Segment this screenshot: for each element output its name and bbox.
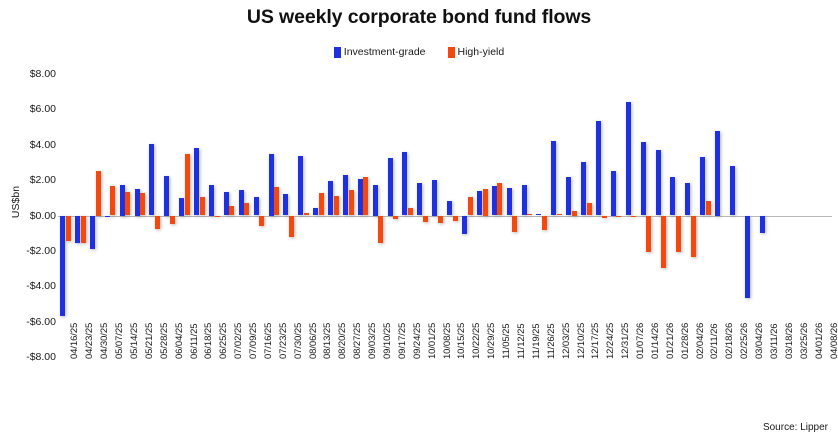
bar-high-yield[interactable] [200, 197, 205, 216]
bar-investment-grade[interactable] [149, 144, 154, 216]
bar-high-yield[interactable] [661, 216, 666, 268]
bar-high-yield[interactable] [512, 216, 517, 233]
bar-group [400, 74, 415, 357]
y-tick-label: $0.00 [4, 210, 56, 222]
bar-high-yield[interactable] [393, 216, 398, 220]
bar-group [252, 74, 267, 357]
bar-high-yield[interactable] [468, 197, 473, 216]
x-tick-label: 10/15/25 [456, 323, 467, 359]
bar-group [698, 74, 713, 357]
bar-investment-grade[interactable] [700, 157, 705, 215]
bar-group [758, 74, 773, 357]
bar-investment-grade[interactable] [298, 156, 303, 215]
bar-investment-grade[interactable] [120, 185, 125, 216]
x-tick-label: 12/24/25 [605, 323, 616, 359]
bar-investment-grade[interactable] [611, 171, 616, 215]
bar-group [132, 74, 147, 357]
bar-investment-grade[interactable] [507, 188, 512, 215]
x-tick-label: 02/25/26 [739, 323, 750, 359]
bar-group [58, 74, 73, 357]
bar-high-yield[interactable] [706, 201, 711, 215]
x-tick-label: 12/17/25 [590, 323, 601, 359]
bar-investment-grade[interactable] [581, 162, 586, 216]
bar-investment-grade[interactable] [730, 166, 735, 216]
x-tick-label: 06/11/25 [189, 324, 200, 359]
x-tick-label: 12/03/25 [561, 323, 572, 359]
x-tick-label: 01/28/26 [680, 323, 691, 359]
x-tick-label: 08/27/25 [352, 323, 363, 359]
x-tick-label: 01/07/26 [635, 323, 646, 359]
bar-group [430, 74, 445, 357]
bar-group [341, 74, 356, 357]
bar-high-yield[interactable] [155, 216, 160, 229]
x-tick-label: 11/19/25 [531, 324, 542, 359]
bar-high-yield[interactable] [349, 190, 354, 216]
bar-investment-grade[interactable] [685, 183, 690, 216]
bar-group [296, 74, 311, 357]
bar-group [668, 74, 683, 357]
x-tick-label: 05/14/25 [129, 323, 140, 359]
y-tick-label: -$2.00 [4, 245, 56, 257]
y-tick-label: $4.00 [4, 139, 56, 151]
bar-high-yield[interactable] [244, 203, 249, 215]
x-tick-label: 03/11/26 [769, 324, 780, 359]
bar-group [460, 74, 475, 357]
x-tick-label: 04/23/25 [84, 323, 95, 359]
bar-group [147, 74, 162, 357]
bar-investment-grade[interactable] [328, 181, 333, 215]
bar-investment-grade[interactable] [492, 186, 497, 215]
bar-group [519, 74, 534, 357]
bar-group [88, 74, 103, 357]
bar-group [713, 74, 728, 357]
bar-group [624, 74, 639, 357]
bar-high-yield[interactable] [319, 193, 324, 216]
x-tick-label: 02/11/26 [709, 324, 720, 359]
bar-group [639, 74, 654, 357]
bar-investment-grade[interactable] [75, 216, 80, 243]
bar-group [73, 74, 88, 357]
bar-group [192, 74, 207, 357]
bar-high-yield[interactable] [274, 187, 279, 215]
x-tick-label: 04/01/26 [814, 323, 825, 359]
bar-high-yield[interactable] [676, 216, 681, 252]
bar-group [743, 74, 758, 357]
x-tick-label: 10/08/25 [442, 323, 453, 359]
x-tick-label: 05/07/25 [114, 323, 125, 359]
bar-investment-grade[interactable] [194, 148, 199, 215]
bar-investment-grade[interactable] [656, 150, 661, 215]
bar-group [281, 74, 296, 357]
x-tick-label: 04/16/25 [69, 323, 80, 359]
bar-high-yield[interactable] [423, 216, 428, 222]
bar-investment-grade[interactable] [596, 121, 601, 216]
legend-swatch-high-yield [448, 47, 455, 58]
bar-high-yield[interactable] [631, 216, 636, 217]
bar-investment-grade[interactable] [135, 189, 140, 216]
bar-group [728, 74, 743, 357]
bar-group [534, 74, 549, 357]
bar-high-yield[interactable] [66, 216, 71, 242]
x-tick-label: 02/04/26 [695, 323, 706, 359]
bar-group [594, 74, 609, 357]
bar-high-yield[interactable] [527, 214, 532, 216]
bar-group [177, 74, 192, 357]
bar-group [549, 74, 564, 357]
bar-high-yield[interactable] [453, 216, 458, 221]
bar-investment-grade[interactable] [626, 102, 631, 215]
bar-investment-grade[interactable] [164, 176, 169, 216]
bar-high-yield[interactable] [587, 203, 592, 215]
bar-investment-grade[interactable] [224, 192, 229, 216]
bar-high-yield[interactable] [557, 214, 562, 215]
y-tick-label: -$6.00 [4, 316, 56, 328]
x-tick-label: 08/06/25 [308, 323, 319, 359]
bar-investment-grade[interactable] [283, 194, 288, 215]
x-tick-label: 01/14/26 [650, 323, 661, 359]
x-tick-label: 01/21/26 [665, 323, 676, 359]
legend-item-investment-grade[interactable]: Investment-grade [334, 46, 426, 58]
x-tick-label: 03/25/26 [799, 323, 810, 359]
bar-group [683, 74, 698, 357]
x-tick-label: 03/04/26 [754, 323, 765, 359]
bar-high-yield[interactable] [602, 216, 607, 219]
y-axis-tick-labels: $8.00$6.00$4.00$2.00$0.00-$2.00-$4.00-$6… [0, 0, 56, 438]
x-tick-label: 08/20/25 [337, 323, 348, 359]
bar-group [207, 74, 222, 357]
bar-high-yield[interactable] [81, 216, 86, 243]
legend-item-high-yield[interactable]: High-yield [448, 46, 505, 58]
x-tick-label: 09/24/25 [412, 323, 423, 359]
bar-group [326, 74, 341, 357]
bar-investment-grade[interactable] [179, 198, 184, 216]
chart-legend: Investment-grade High-yield [0, 46, 838, 58]
x-tick-label: 07/09/25 [248, 323, 259, 359]
legend-label-high-yield: High-yield [458, 46, 505, 58]
x-tick-label: 09/10/25 [382, 323, 393, 359]
source-note: Source: Lipper [763, 422, 828, 433]
bar-high-yield[interactable] [110, 186, 115, 215]
bar-investment-grade[interactable] [105, 216, 110, 218]
x-tick-label: 06/18/25 [203, 323, 214, 359]
y-tick-label: $8.00 [4, 68, 56, 80]
y-tick-label: $6.00 [4, 103, 56, 115]
bar-group [103, 74, 118, 357]
bar-investment-grade[interactable] [417, 183, 422, 216]
bar-group [787, 74, 802, 357]
bar-high-yield[interactable] [140, 193, 145, 216]
bar-group [817, 74, 832, 357]
bar-investment-grade[interactable] [373, 185, 378, 216]
x-tick-label: 11/26/25 [546, 324, 557, 359]
bar-high-yield[interactable] [229, 206, 234, 216]
bar-group [490, 74, 505, 357]
bar-group [772, 74, 787, 357]
y-tick-label: $2.00 [4, 174, 56, 186]
bar-group [505, 74, 520, 357]
bar-investment-grade[interactable] [239, 190, 244, 216]
bar-investment-grade[interactable] [715, 131, 720, 215]
bar-group [564, 74, 579, 357]
bar-investment-grade[interactable] [90, 216, 95, 250]
bar-investment-grade[interactable] [388, 158, 393, 215]
x-tick-label: 03/18/26 [784, 323, 795, 359]
bar-high-yield[interactable] [304, 213, 309, 216]
legend-label-investment-grade: Investment-grade [344, 46, 426, 58]
bar-investment-grade[interactable] [432, 180, 437, 215]
x-axis-tick-labels: 04/16/2504/23/2504/30/2505/07/2505/14/25… [58, 357, 832, 417]
chart-title: US weekly corporate bond fund flows [0, 6, 838, 29]
bar-group [445, 74, 460, 357]
bar-group [222, 74, 237, 357]
bar-high-yield[interactable] [408, 208, 413, 216]
bar-group [579, 74, 594, 357]
y-tick-label: -$8.00 [4, 351, 56, 363]
bar-investment-grade[interactable] [60, 216, 65, 317]
bar-group [162, 74, 177, 357]
bar-investment-grade[interactable] [254, 197, 259, 216]
x-tick-label: 04/30/25 [99, 323, 110, 359]
bar-investment-grade[interactable] [522, 185, 527, 215]
x-tick-label: 09/17/25 [397, 323, 408, 359]
bar-high-yield[interactable] [215, 216, 220, 217]
legend-swatch-investment-grade [334, 47, 341, 58]
bar-high-yield[interactable] [289, 216, 294, 237]
bar-investment-grade[interactable] [358, 179, 363, 215]
bar-high-yield[interactable] [691, 216, 696, 258]
bar-investment-grade[interactable] [269, 154, 274, 216]
x-tick-label: 10/29/25 [486, 323, 497, 359]
bar-high-yield[interactable] [363, 177, 368, 215]
plot-area [58, 74, 832, 357]
x-tick-label: 12/10/25 [576, 323, 587, 359]
chart-container: US weekly corporate bond fund flows Inve… [0, 0, 838, 438]
bar-high-yield[interactable] [96, 171, 101, 215]
bar-group [802, 74, 817, 357]
bar-group [356, 74, 371, 357]
x-tick-label: 05/21/25 [144, 323, 155, 359]
bar-investment-grade[interactable] [566, 177, 571, 216]
bar-investment-grade[interactable] [462, 216, 467, 235]
bar-high-yield[interactable] [542, 216, 547, 230]
bar-high-yield[interactable] [646, 216, 651, 252]
bar-high-yield[interactable] [334, 196, 339, 215]
bar-high-yield[interactable] [438, 216, 443, 223]
x-tick-label: 11/12/25 [516, 324, 527, 359]
bar-investment-grade[interactable] [313, 208, 318, 216]
bar-high-yield[interactable] [616, 216, 621, 218]
bar-group [237, 74, 252, 357]
bar-high-yield[interactable] [125, 192, 130, 216]
x-tick-label: 02/18/26 [724, 323, 735, 359]
x-tick-label: 07/02/25 [233, 323, 244, 359]
bar-high-yield[interactable] [378, 216, 383, 243]
bar-high-yield[interactable] [185, 154, 190, 215]
bar-investment-grade[interactable] [641, 142, 646, 215]
bar-group [609, 74, 624, 357]
bar-investment-grade[interactable] [402, 152, 407, 216]
bar-high-yield[interactable] [259, 216, 264, 227]
bar-group [653, 74, 668, 357]
x-tick-label: 05/28/25 [159, 323, 170, 359]
bar-investment-grade[interactable] [551, 141, 556, 215]
bar-investment-grade[interactable] [536, 214, 541, 216]
x-tick-label: 04/08/26 [829, 323, 838, 359]
y-tick-label: -$4.00 [4, 280, 56, 292]
bar-investment-grade[interactable] [670, 177, 675, 215]
x-tick-label: 10/01/25 [427, 323, 438, 359]
bar-high-yield[interactable] [483, 189, 488, 216]
x-tick-label: 07/23/25 [278, 323, 289, 359]
bar-group [371, 74, 386, 357]
x-tick-label: 06/25/25 [218, 323, 229, 359]
bar-investment-grade[interactable] [745, 216, 750, 298]
bar-group [385, 74, 400, 357]
bar-high-yield[interactable] [170, 216, 175, 225]
x-tick-label: 07/16/25 [263, 323, 274, 359]
bar-group [266, 74, 281, 357]
x-tick-label: 11/05/25 [501, 324, 512, 359]
bar-group [415, 74, 430, 357]
x-tick-label: 07/30/25 [293, 323, 304, 359]
bar-investment-grade[interactable] [209, 185, 214, 216]
x-tick-label: 09/03/25 [367, 323, 378, 359]
bar-group [311, 74, 326, 357]
bar-group [475, 74, 490, 357]
bar-high-yield[interactable] [497, 183, 502, 216]
bar-group [118, 74, 133, 357]
x-tick-label: 12/31/25 [620, 323, 631, 359]
bar-investment-grade[interactable] [760, 216, 765, 234]
bar-high-yield[interactable] [572, 211, 577, 215]
x-tick-label: 08/13/25 [322, 323, 333, 359]
x-tick-label: 10/22/25 [471, 323, 482, 359]
bar-investment-grade[interactable] [447, 201, 452, 215]
x-tick-label: 06/04/25 [174, 323, 185, 359]
bar-investment-grade[interactable] [343, 175, 348, 216]
bar-investment-grade[interactable] [477, 191, 482, 216]
